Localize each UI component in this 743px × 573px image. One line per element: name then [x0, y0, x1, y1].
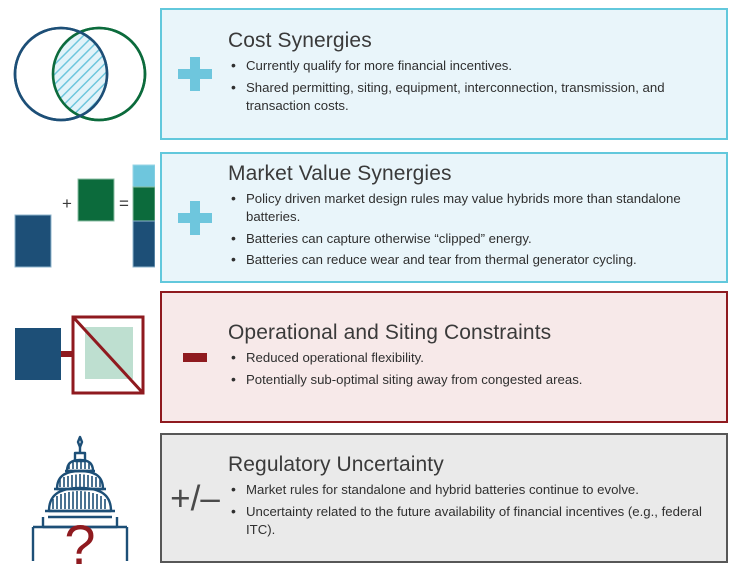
stacked-bar-chart-icon: + = — [5, 159, 155, 277]
icon-cell-market-value-synergies: + = — [0, 152, 160, 283]
plus-sign-icon-market-value-synergies — [162, 201, 228, 235]
minus-glyph — [183, 353, 207, 362]
list-item: Market rules for standalone and hybrid b… — [228, 481, 716, 499]
row-regulatory-uncertainty: ? +/– Regulatory Uncertainty Market rule… — [0, 433, 743, 563]
row-market-value-synergies: + = Market Value Synergies Pol — [0, 152, 743, 283]
plus-sign-icon-cost-synergies — [162, 57, 228, 91]
svg-text:=: = — [119, 194, 129, 213]
list-item: Reduced operational flexibility. — [228, 349, 716, 367]
hybrid-battery-considerations-graphic: Cost Synergies Currently qualify for mor… — [0, 0, 743, 573]
plus-glyph — [178, 57, 212, 91]
panel-content-market-value-synergies: Market Value Synergies Policy driven mar… — [228, 156, 726, 279]
capitol-question-icon: ? — [21, 431, 139, 566]
plus-minus-glyph: +/– — [170, 481, 220, 516]
list-item: Batteries can capture otherwise “clipped… — [228, 230, 716, 248]
svg-text:+: + — [62, 194, 72, 213]
venn-diagram-icon — [5, 14, 155, 134]
question-mark-glyph: ? — [64, 513, 95, 566]
list-item: Batteries can reduce wear and tear from … — [228, 251, 716, 269]
panel-cost-synergies: Cost Synergies Currently qualify for mor… — [160, 8, 728, 140]
panel-content-regulatory-uncertainty: Regulatory Uncertainty Market rules for … — [228, 447, 726, 548]
panel-operational-and-siting-constraints: Operational and Siting Constraints Reduc… — [160, 291, 728, 423]
panel-title-regulatory-uncertainty: Regulatory Uncertainty — [228, 453, 716, 477]
plus-glyph — [178, 201, 212, 235]
blocked-site-icon — [5, 305, 155, 410]
panel-title-market-value-synergies: Market Value Synergies — [228, 162, 716, 186]
list-item: Potentially sub-optimal siting away from… — [228, 371, 716, 389]
panel-content-cost-synergies: Cost Synergies Currently qualify for mor… — [228, 23, 726, 124]
bullet-list-market-value-synergies: Policy driven market design rules may va… — [228, 190, 716, 269]
bullet-list-cost-synergies: Currently qualify for more financial inc… — [228, 57, 716, 114]
list-item: Currently qualify for more financial inc… — [228, 57, 716, 75]
icon-cell-regulatory-uncertainty: ? — [0, 433, 160, 563]
icon-cell-cost-synergies — [0, 8, 160, 140]
plus-minus-sign-icon-regulatory-uncertainty: +/– — [162, 481, 228, 516]
panel-regulatory-uncertainty: +/– Regulatory Uncertainty Market rules … — [160, 433, 728, 563]
list-item: Shared permitting, siting, equipment, in… — [228, 79, 716, 114]
row-cost-synergies: Cost Synergies Currently qualify for mor… — [0, 8, 743, 140]
panel-title-cost-synergies: Cost Synergies — [228, 29, 716, 53]
panel-content-operational-and-siting-constraints: Operational and Siting Constraints Reduc… — [228, 315, 726, 398]
icon-cell-operational-and-siting-constraints — [0, 291, 160, 423]
panel-market-value-synergies: Market Value Synergies Policy driven mar… — [160, 152, 728, 283]
list-item: Policy driven market design rules may va… — [228, 190, 716, 225]
bullet-list-regulatory-uncertainty: Market rules for standalone and hybrid b… — [228, 481, 716, 538]
row-operational-and-siting-constraints: Operational and Siting Constraints Reduc… — [0, 291, 743, 423]
bullet-list-operational-and-siting-constraints: Reduced operational flexibility. Potenti… — [228, 349, 716, 388]
minus-sign-icon-operational-and-siting-constraints — [162, 353, 228, 362]
panel-title-operational-and-siting-constraints: Operational and Siting Constraints — [228, 321, 716, 345]
list-item: Uncertainty related to the future availa… — [228, 503, 716, 538]
